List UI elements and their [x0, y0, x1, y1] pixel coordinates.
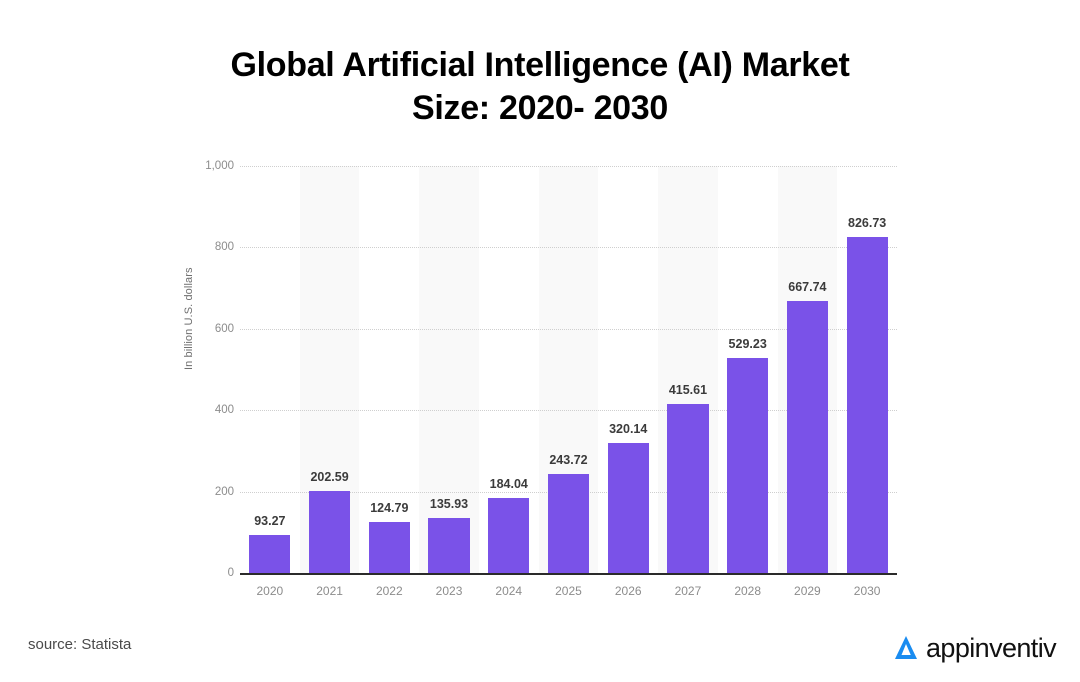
x-tick-2029: 2029	[778, 584, 838, 598]
x-tick-2028: 2028	[718, 584, 778, 598]
x-tick-2030: 2030	[837, 584, 897, 598]
y-tick-200: 200	[182, 486, 234, 498]
bar-2022[interactable]	[369, 522, 410, 573]
bar-2028[interactable]	[727, 358, 768, 573]
bar-value-2020: 93.27	[240, 514, 300, 528]
bar-value-2028: 529.23	[718, 337, 778, 351]
bar-2030[interactable]	[847, 237, 888, 573]
y-tick-800: 800	[182, 241, 234, 253]
gridline-1000	[240, 166, 897, 167]
bar-chart: 02004006008001,000 In billion U.S. dolla…	[0, 0, 1080, 682]
gridline-800	[240, 247, 897, 248]
bar-value-2026: 320.14	[598, 422, 658, 436]
bar-value-2023: 135.93	[419, 497, 479, 511]
bar-2026[interactable]	[608, 443, 649, 573]
bar-2027[interactable]	[667, 404, 708, 573]
bar-value-2029: 667.74	[778, 280, 838, 294]
bar-2020[interactable]	[249, 535, 290, 573]
y-axis-title: In billion U.S. dollars	[183, 267, 195, 370]
bar-2029[interactable]	[787, 301, 828, 573]
x-tick-2020: 2020	[240, 584, 300, 598]
bar-value-2025: 243.72	[539, 453, 599, 467]
bar-value-2027: 415.61	[658, 383, 718, 397]
x-tick-2022: 2022	[359, 584, 419, 598]
x-tick-2024: 2024	[479, 584, 539, 598]
column-band-2023	[419, 166, 479, 573]
x-tick-2023: 2023	[419, 584, 479, 598]
bar-value-2022: 124.79	[359, 501, 419, 515]
y-tick-400: 400	[182, 404, 234, 416]
x-tick-2026: 2026	[598, 584, 658, 598]
x-tick-2027: 2027	[658, 584, 718, 598]
source-caption: source: Statista	[28, 636, 131, 653]
x-axis-line	[240, 573, 897, 575]
bar-value-2021: 202.59	[300, 470, 360, 484]
x-tick-2021: 2021	[300, 584, 360, 598]
x-tick-2025: 2025	[539, 584, 599, 598]
brand-wordmark: appinventiv	[926, 633, 1056, 664]
y-tick-0: 0	[182, 567, 234, 579]
bar-2023[interactable]	[428, 518, 469, 573]
appinventiv-logo: appinventiv	[889, 628, 1056, 668]
plot-area	[240, 166, 897, 573]
bar-2024[interactable]	[488, 498, 529, 573]
bar-2021[interactable]	[309, 491, 350, 573]
y-tick-1000: 1,000	[182, 160, 234, 172]
bar-value-2024: 184.04	[479, 477, 539, 491]
bar-2025[interactable]	[548, 474, 589, 573]
appinventiv-logo-icon	[889, 631, 923, 665]
bar-value-2030: 826.73	[837, 216, 897, 230]
